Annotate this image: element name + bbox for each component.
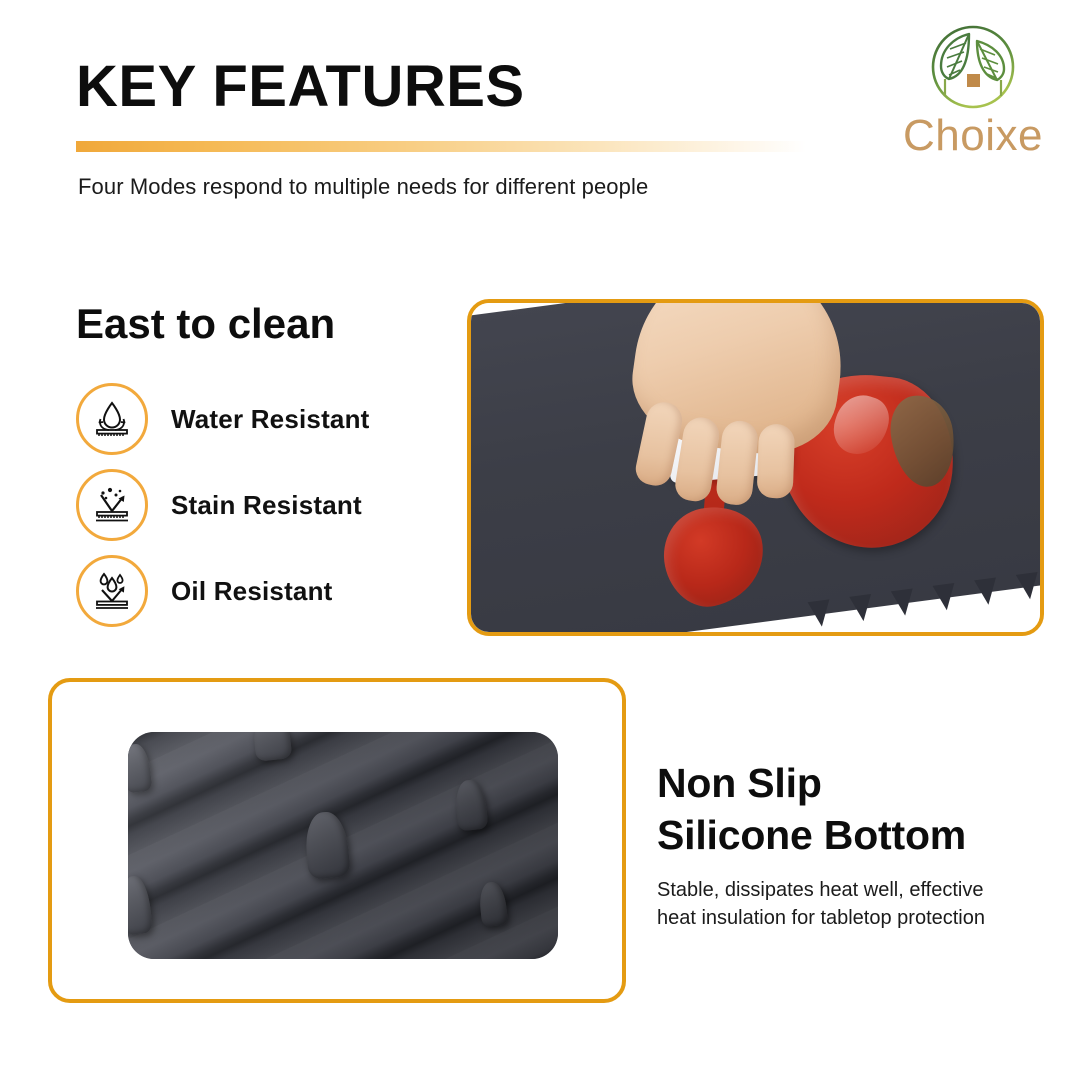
feature-row-stain-resistant: Stain Resistant	[76, 462, 466, 548]
silicone-nub	[252, 732, 293, 762]
water-droplet-repel-icon	[89, 396, 135, 442]
silicone-ridged-bottom-photo	[128, 732, 558, 959]
feature-row-oil-resistant: Oil Resistant	[76, 548, 466, 634]
nonslip-description-line2: heat insulation for tabletop protection	[657, 904, 1047, 932]
feature-list: Water Resistant Stain Resistant	[76, 376, 466, 634]
leaf-circle-logo-icon	[919, 22, 1027, 112]
feature-label-oil-resistant: Oil Resistant	[171, 576, 333, 607]
nonslip-heading: Non Slip Silicone Bottom	[657, 757, 1047, 862]
feature-label-stain-resistant: Stain Resistant	[171, 490, 362, 521]
feature-row-water-resistant: Water Resistant	[76, 376, 466, 462]
title-underline-rule	[76, 141, 806, 152]
hand-wiping-ketchup-photo	[471, 303, 1040, 632]
clean-section-heading: East to clean	[76, 303, 335, 345]
nonslip-section: Non Slip Silicone Bottom Stable, dissipa…	[657, 757, 1047, 933]
page-subtitle: Four Modes respond to multiple needs for…	[78, 174, 648, 200]
oil-droplet-repel-icon	[89, 568, 135, 614]
nonslip-heading-line2: Silicone Bottom	[657, 809, 1047, 861]
stain-repel-arrow-icon	[89, 482, 135, 528]
brand-logo: Choixe	[898, 22, 1048, 158]
feature-badge-stain	[76, 469, 148, 541]
nonslip-heading-line1: Non Slip	[657, 757, 1047, 809]
clean-photo-frame	[467, 299, 1044, 636]
nonslip-description-line1: Stable, dissipates heat well, effective	[657, 876, 1047, 904]
nonslip-description: Stable, dissipates heat well, effective …	[657, 876, 1047, 933]
page-title: KEY FEATURES	[76, 58, 525, 116]
brand-wordmark: Choixe	[898, 114, 1048, 158]
feature-badge-oil	[76, 555, 148, 627]
feature-label-water-resistant: Water Resistant	[171, 404, 370, 435]
bottom-photo-frame	[48, 678, 626, 1003]
feature-badge-water	[76, 383, 148, 455]
